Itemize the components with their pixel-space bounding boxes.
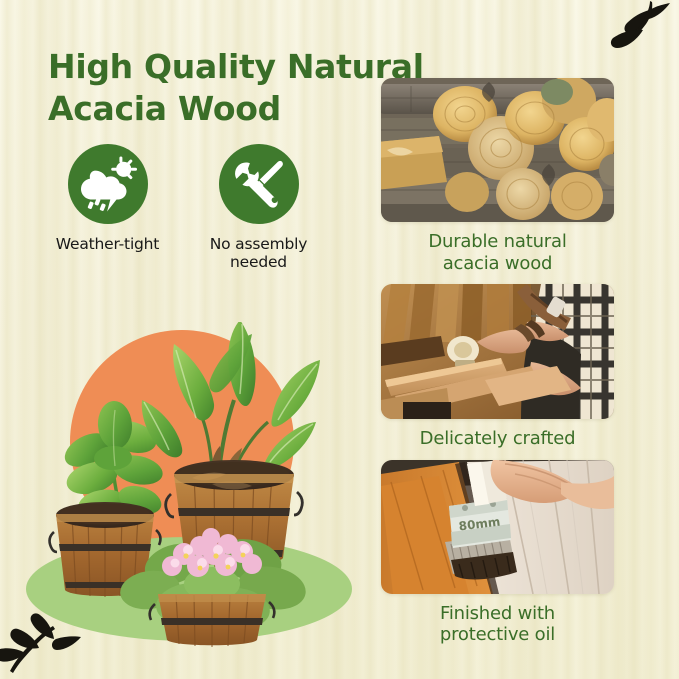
- photo-block-durable-wood: Durable natural acacia wood: [381, 78, 614, 274]
- photo-caption-protective-oil: Finished with protective oil: [381, 603, 614, 646]
- feature-no-assembly: No assembly needed: [197, 144, 320, 272]
- no-assembly-badge: [219, 144, 299, 224]
- caption-line-1: Delicately crafted: [420, 428, 576, 449]
- caption-line-2: protective oil: [381, 624, 614, 646]
- photo-block-protective-oil: 80mm Finished with protective oil: [381, 460, 614, 646]
- feature-badge-row: Weather-tight No: [46, 144, 346, 272]
- weather-tight-badge: [68, 144, 148, 224]
- photo-caption-durable-wood: Durable natural acacia wood: [381, 231, 614, 274]
- feature-no-assembly-label-line-2: needed: [230, 253, 287, 271]
- caption-line-1: Finished with: [440, 603, 555, 624]
- feature-no-assembly-label: No assembly needed: [210, 235, 307, 272]
- craftsman-measuring-wood-photo: [381, 284, 614, 419]
- wrench-screwdriver-icon: [232, 157, 286, 211]
- feature-weather-tight-label: Weather-tight: [56, 235, 159, 253]
- weather-cloud-sun-lightning-icon: [79, 156, 137, 212]
- photo-column: Durable natural acacia wood: [381, 78, 614, 656]
- photo-caption-crafted: Delicately crafted: [381, 428, 614, 450]
- stacked-cut-logs-photo: [381, 78, 614, 222]
- feature-weather-tight: Weather-tight: [46, 144, 169, 272]
- brush-applying-oil-to-decking-photo: 80mm: [381, 460, 614, 594]
- hero-product-image: [14, 322, 364, 647]
- feature-no-assembly-label-line-1: No assembly: [210, 235, 307, 253]
- title-line-1: High Quality Natural: [48, 47, 424, 86]
- caption-line-1: Durable natural: [428, 231, 566, 252]
- infographic-canvas: High Quality Natural Acacia Wood: [0, 0, 679, 679]
- caption-line-2: acacia wood: [381, 253, 614, 275]
- photo-block-crafted: Delicately crafted: [381, 284, 614, 450]
- leaf-branch-top-right-icon: [605, 0, 671, 60]
